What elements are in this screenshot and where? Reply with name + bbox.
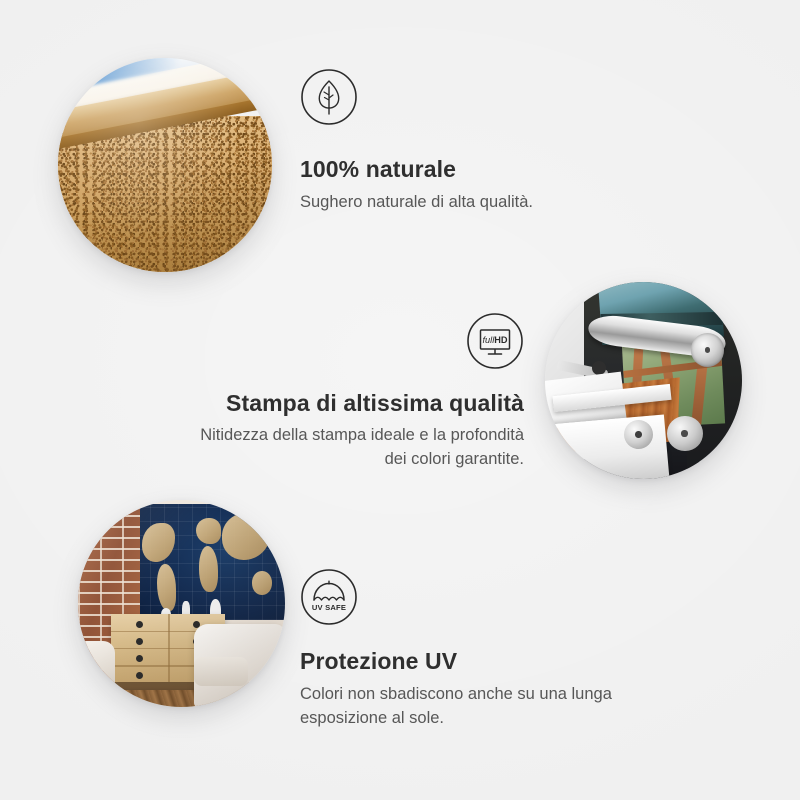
fullhd-monitor-icon: fullHD — [466, 312, 524, 370]
svg-text:UV SAFE: UV SAFE — [312, 603, 346, 612]
printer-roller-cap — [691, 333, 724, 366]
printing-machine-photo — [545, 282, 742, 479]
feature-uv-heading: Protezione UV — [300, 648, 670, 674]
svg-text:fullHD: fullHD — [482, 335, 507, 345]
room-world-map-photo — [78, 500, 285, 707]
uv-safe-icon-wrapper: UV SAFE — [300, 568, 670, 626]
feature-print-quality: fullHD Stampa di altissima qualità Nitid… — [178, 312, 524, 471]
printer-knob — [592, 361, 606, 375]
feature-print-heading: Stampa di altissima qualità — [178, 390, 524, 416]
feature-print-subtext: Nitidezza della stampa ideale e la profo… — [178, 424, 524, 471]
room-photo-lighting — [78, 500, 285, 707]
feature-natural-heading: 100% naturale — [300, 156, 600, 182]
fullhd-icon-wrapper: fullHD — [178, 312, 524, 370]
printer-wheel — [667, 416, 702, 451]
leaf-icon — [300, 68, 358, 126]
features-page: 100% naturale Sughero naturale di alta q… — [0, 0, 800, 800]
feature-natural: 100% naturale Sughero naturale di alta q… — [300, 68, 600, 215]
cork-photo-shading — [58, 58, 272, 272]
cork-texture-photo — [58, 58, 272, 272]
uv-safe-umbrella-icon: UV SAFE — [300, 568, 358, 626]
feature-uv-subtext: Colori non sbadiscono anche su una lunga… — [300, 683, 670, 730]
feature-natural-subtext: Sughero naturale di alta qualità. — [300, 191, 600, 214]
feature-uv-protection: UV SAFE Protezione UV Colori non sbadisc… — [300, 568, 670, 730]
leaf-icon-wrapper — [300, 68, 600, 126]
printer-output-tray — [545, 414, 670, 479]
